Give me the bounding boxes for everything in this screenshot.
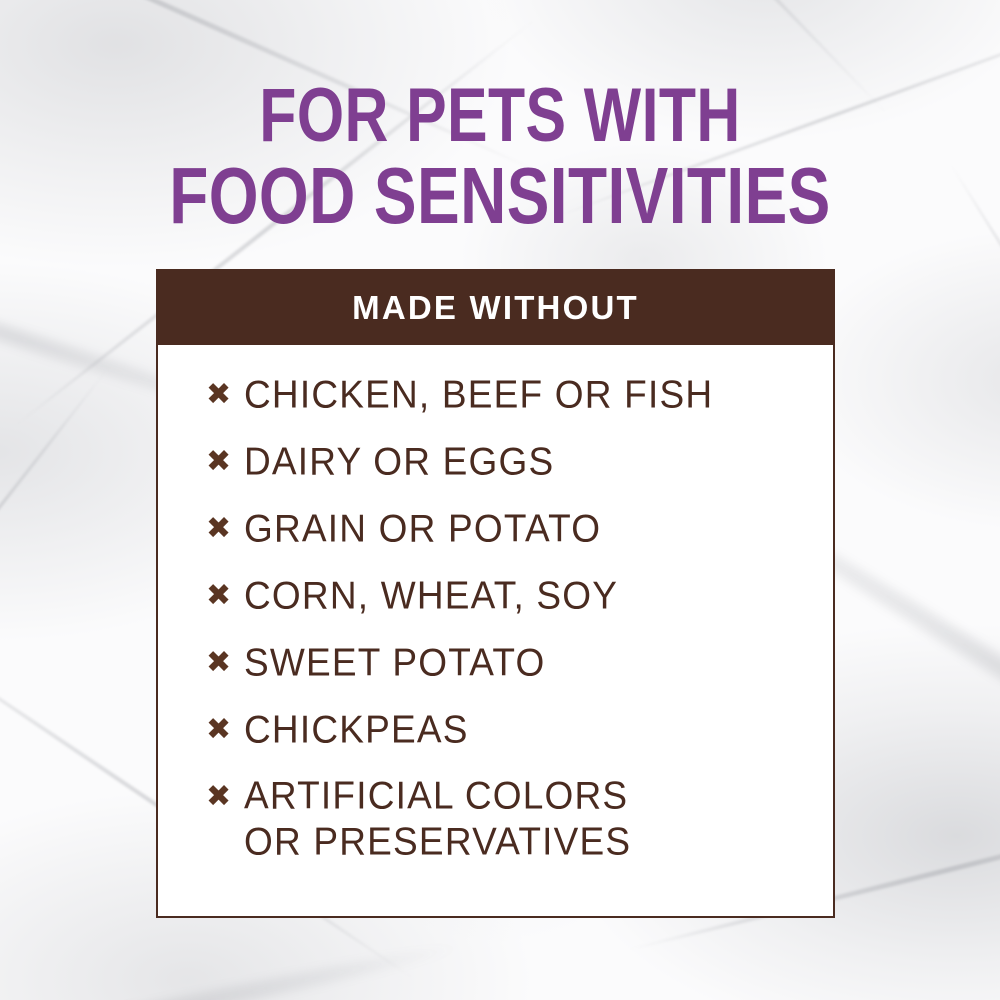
made-without-card: MADE WITHOUT ✖ CHICKEN, BEEF OR FISH ✖ D… xyxy=(156,269,835,918)
list-item-line-1: CHICKEN, BEEF OR FISH xyxy=(244,372,815,418)
cross-mark-icon: ✖ xyxy=(206,440,244,484)
headline-line-2: FOOD SENSITIVITIES xyxy=(100,156,900,236)
list-item-line-1: CHICKPEAS xyxy=(244,707,815,753)
list-item-label: DAIRY OR EGGS xyxy=(244,439,815,485)
list-item-label: SWEET POTATO xyxy=(244,640,815,686)
list-item: ✖ GRAIN OR POTATO xyxy=(206,507,815,551)
list-item-line-1: DAIRY OR EGGS xyxy=(244,439,815,485)
list-item-label: CHICKEN, BEEF OR FISH xyxy=(244,372,815,418)
list-item-label: CORN, WHEAT, SOY xyxy=(244,573,815,619)
list-item: ✖ ARTIFICIAL COLORS OR PRESERVATIVES xyxy=(206,775,815,863)
list-item: ✖ CHICKEN, BEEF OR FISH xyxy=(206,373,815,417)
cross-mark-icon: ✖ xyxy=(206,373,244,417)
cross-mark-icon: ✖ xyxy=(206,708,244,752)
cross-mark-icon: ✖ xyxy=(206,507,244,551)
card-header-band: MADE WITHOUT xyxy=(158,271,833,345)
list-item-line-1: CORN, WHEAT, SOY xyxy=(244,573,815,619)
list-item: ✖ DAIRY OR EGGS xyxy=(206,440,815,484)
list-item-line-1: GRAIN OR POTATO xyxy=(244,506,815,552)
list-item-line-1: ARTIFICIAL COLORS xyxy=(244,773,815,819)
card-body: ✖ CHICKEN, BEEF OR FISH ✖ DAIRY OR EGGS … xyxy=(158,345,833,863)
headline-line-1: FOR PETS WITH xyxy=(100,76,900,156)
card-header-title: MADE WITHOUT xyxy=(352,289,639,327)
cross-mark-icon: ✖ xyxy=(206,775,244,819)
list-item-line-2: OR PRESERVATIVES xyxy=(244,819,815,865)
page-title: FOR PETS WITH FOOD SENSITIVITIES xyxy=(100,76,900,236)
list-item-label: ARTIFICIAL COLORS OR PRESERVATIVES xyxy=(244,773,815,865)
list-item-line-1: SWEET POTATO xyxy=(244,640,815,686)
list-item: ✖ CHICKPEAS xyxy=(206,708,815,752)
list-item: ✖ CORN, WHEAT, SOY xyxy=(206,574,815,618)
cross-mark-icon: ✖ xyxy=(206,641,244,685)
list-item-label: GRAIN OR POTATO xyxy=(244,506,815,552)
list-item: ✖ SWEET POTATO xyxy=(206,641,815,685)
list-item-label: CHICKPEAS xyxy=(244,707,815,753)
made-without-list: ✖ CHICKEN, BEEF OR FISH ✖ DAIRY OR EGGS … xyxy=(158,373,833,863)
poster-root: FOR PETS WITH FOOD SENSITIVITIES MADE WI… xyxy=(0,0,1000,1000)
cross-mark-icon: ✖ xyxy=(206,574,244,618)
